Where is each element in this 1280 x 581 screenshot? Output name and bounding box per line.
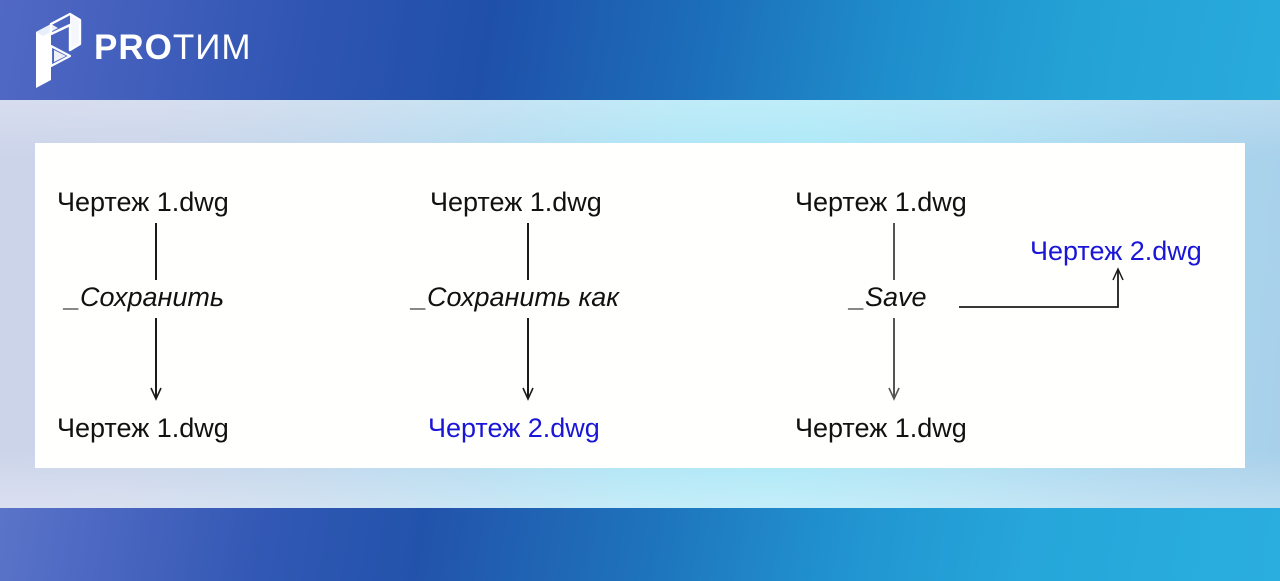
col1-result-file: Чертеж 1.dwg <box>57 415 229 442</box>
col3-command-label: _Save <box>850 284 927 311</box>
col2-source-file: Чертеж 1.dwg <box>430 189 602 216</box>
col3-source-file: Чертеж 1.dwg <box>795 189 967 216</box>
col1-command-label: _Сохранить <box>65 284 224 311</box>
col3-branch-arrow <box>955 261 1135 315</box>
col2-connector-bottom-arrow <box>519 318 537 403</box>
isometric-p-logo-icon <box>18 12 84 88</box>
col1-source-file: Чертеж 1.dwg <box>57 189 229 216</box>
diagram-card: Чертеж 1.dwg _Сохранить Чертеж 1.dwg Чер… <box>35 143 1245 468</box>
page-root: PROТИМ Чертеж 1.dwg _Сохранить Чертеж 1.… <box>0 0 1280 581</box>
brand-wordmark-pro: PRO <box>94 28 173 67</box>
col3-connector-bottom-arrow <box>885 318 903 403</box>
col2-connector-top <box>527 223 529 280</box>
brand-wordmark-tim: ТИМ <box>173 28 252 67</box>
col1-connector-top <box>155 223 157 280</box>
col3-branch-file: Чертеж 2.dwg <box>1030 238 1202 265</box>
background-band-bottom <box>0 508 1280 581</box>
col1-connector-bottom-arrow <box>147 318 165 403</box>
col2-command-label: _Сохранить как <box>412 284 619 311</box>
col2-result-file: Чертеж 2.dwg <box>428 415 600 442</box>
brand-wordmark: PROТИМ <box>94 30 252 65</box>
brand-logo[interactable]: PROТИМ <box>18 12 248 88</box>
col3-result-file: Чертеж 1.dwg <box>795 415 967 442</box>
col3-connector-top <box>893 223 895 280</box>
brand-banner: PROТИМ <box>0 0 1280 100</box>
